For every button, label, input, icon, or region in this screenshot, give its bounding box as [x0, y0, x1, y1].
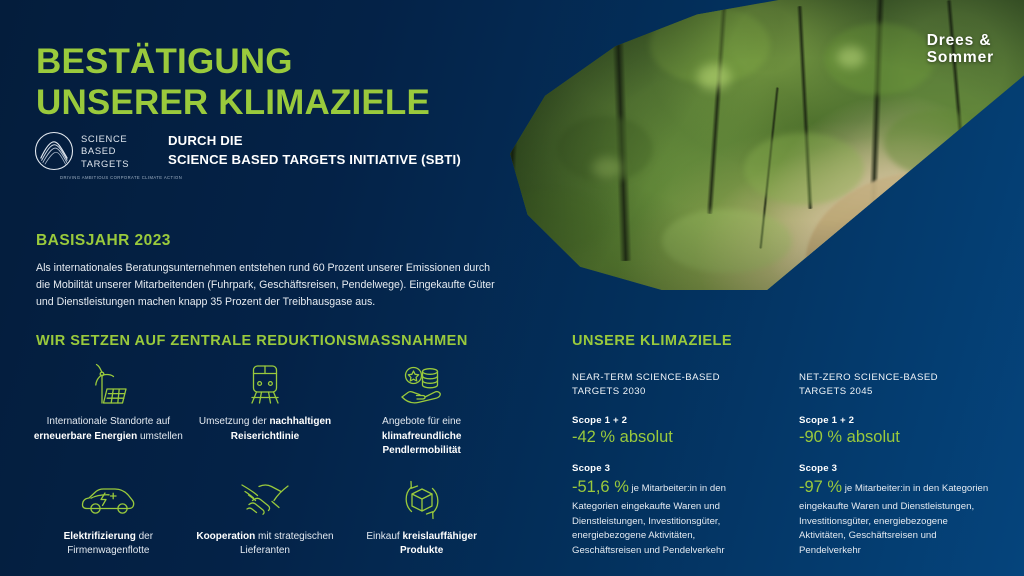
scope-3-value: -51,6 % — [572, 478, 629, 496]
sbti-block: SCIENCE BASED TARGETS DRIVING AMBITIOUS … — [34, 131, 461, 171]
measure-item: Umsetzung der nachhaltigen Reiserichtlin… — [187, 362, 344, 459]
measure-item: Internationale Standorte auf erneuerbare… — [30, 362, 187, 459]
drees-sommer-logo: Drees & Sommer — [927, 33, 994, 66]
sbti-tagline: DRIVING AMBITIOUS CORPORATE CLIMATE ACTI… — [60, 175, 210, 180]
basisjahr-heading: BASISJAHR 2023 — [36, 232, 171, 250]
wind-turbine-solar-panel-icon — [85, 362, 131, 408]
electric-car-icon — [79, 477, 137, 523]
scope-3-value: -97 % — [799, 478, 842, 496]
measure-label: Angebote für eine klimafreundliche Pendl… — [346, 415, 498, 459]
basisjahr-paragraph: Als internationales Beratungsunternehmen… — [36, 260, 498, 311]
target-column-near-term: NEAR-TERM SCIENCE-BASED TARGETS 2030 Sco… — [572, 371, 765, 559]
measures-heading: WIR SETZEN AUF ZENTRALE REDUKTIONSMASSNA… — [36, 333, 468, 349]
measure-item: Angebote für eine klimafreundliche Pendl… — [343, 362, 500, 459]
scope-3-value-block: -51,6 % je Mitarbeiter:in in den Kategor… — [572, 475, 765, 558]
measure-label: Kooperation mit strategischen Lieferante… — [189, 530, 341, 559]
handshake-icon — [239, 477, 291, 523]
scope-1-2-label: Scope 1 + 2 — [799, 415, 992, 426]
measure-label: Elektrifizierung der Firmenwagenflotte — [32, 530, 184, 559]
scope-3-label: Scope 3 — [572, 463, 765, 474]
measure-item: Einkauf kreislauffähiger Produkte — [343, 477, 500, 559]
hand-coins-star-icon — [398, 362, 446, 408]
train-icon — [244, 362, 286, 408]
logo-line-2: Sommer — [927, 50, 994, 67]
scope-3-value-block: -97 % je Mitarbeiter:in in den Kategorie… — [799, 475, 992, 558]
measure-label: Umsetzung der nachhaltigen Reiserichtlin… — [189, 415, 341, 444]
scope-3-label: Scope 3 — [799, 463, 992, 474]
sbti-subtitle-line-1: DURCH DIE — [168, 132, 461, 151]
sbti-subtitle: DURCH DIE SCIENCE BASED TARGETS INITIATI… — [160, 132, 461, 169]
sbti-word-based: BASED — [81, 145, 129, 157]
scope-1-2-label: Scope 1 + 2 — [572, 415, 765, 426]
sbti-word-science: SCIENCE — [81, 133, 129, 145]
measures-grid: Internationale Standorte auf erneuerbare… — [30, 362, 500, 559]
scope-1-2-value: -90 % absolut — [799, 427, 992, 448]
measure-label-pre: Internationale Standorte auf — [47, 416, 170, 427]
sbti-wordmark: SCIENCE BASED TARGETS — [81, 131, 129, 170]
targets-heading: UNSERE KLIMAZIELE — [572, 333, 732, 349]
page-title: BESTÄTIGUNG UNSERER KLIMAZIELE — [36, 42, 476, 123]
measure-label-pre: Umsetzung der — [199, 416, 270, 427]
headline-line-1: BESTÄTIGUNG — [36, 42, 476, 83]
targets-columns: NEAR-TERM SCIENCE-BASED TARGETS 2030 Sco… — [572, 371, 992, 559]
measure-item: Elektrifizierung der Firmenwagenflotte — [30, 477, 187, 559]
target-kicker-line-2: TARGETS 2030 — [572, 385, 765, 399]
measure-label: Einkauf kreislauffähiger Produkte — [346, 530, 498, 559]
sbti-mountain-wave-icon — [34, 131, 74, 171]
target-kicker-line-1: NEAR-TERM SCIENCE-BASED — [572, 371, 765, 385]
measure-label-bold: erneuerbare Energien — [34, 431, 137, 442]
measure-label-bold: Kooperation — [196, 531, 255, 542]
sbti-subtitle-line-2: SCIENCE BASED TARGETS INITIATIVE (SBTI) — [168, 151, 461, 170]
circular-economy-box-icon — [401, 477, 443, 523]
target-kicker: NEAR-TERM SCIENCE-BASED TARGETS 2030 — [572, 371, 765, 399]
slide-root: Drees & Sommer BESTÄTIGUNG UNSERER KLIMA… — [0, 0, 1024, 576]
scope-1-2-value: -42 % absolut — [572, 427, 765, 448]
sbti-logo: SCIENCE BASED TARGETS DRIVING AMBITIOUS … — [34, 131, 146, 171]
measure-item: Kooperation mit strategischen Lieferante… — [187, 477, 344, 559]
measure-label: Internationale Standorte auf erneuerbare… — [32, 415, 184, 444]
target-kicker-line-2: TARGETS 2045 — [799, 385, 992, 399]
target-column-net-zero: NET-ZERO SCIENCE-BASED TARGETS 2045 Scop… — [799, 371, 992, 559]
target-kicker: NET-ZERO SCIENCE-BASED TARGETS 2045 — [799, 371, 992, 399]
target-kicker-line-1: NET-ZERO SCIENCE-BASED — [799, 371, 992, 385]
measure-label-bold: kreislauffähiger Produkte — [400, 531, 477, 557]
measure-label-pre: Einkauf — [366, 531, 402, 542]
basisjahr-body: Als internationales Beratungsunternehmen… — [36, 260, 498, 311]
sbti-word-targets: TARGETS — [81, 158, 129, 170]
measure-label-post: umstellen — [137, 431, 183, 442]
measure-label-pre: Angebote für eine — [382, 416, 461, 427]
logo-line-1: Drees & — [927, 33, 994, 50]
measure-label-bold: Elektrifizierung — [64, 531, 136, 542]
measure-label-bold: klimafreundliche Pendlermobilität — [382, 431, 461, 457]
headline-line-2: UNSERER KLIMAZIELE — [36, 83, 476, 124]
